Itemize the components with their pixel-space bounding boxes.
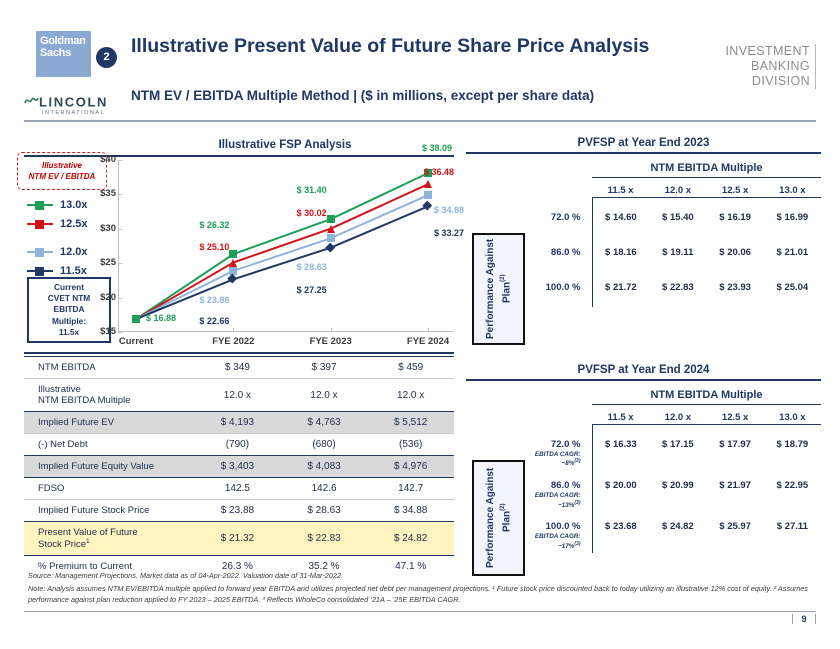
pvfsp-multiple-column-header: 11.5 x	[592, 411, 649, 425]
pvfsp-multiple-column-header: 11.5 x	[592, 184, 649, 198]
table-row: IllustrativeNTM EBITDA Multiple12.0 x12.…	[24, 379, 454, 412]
data-point-label: $ 38.09	[422, 143, 452, 153]
table-cell-value: 12.0 x	[367, 379, 454, 412]
callout-line-2: NTM EV / EBITDA	[29, 172, 96, 181]
pvfsp-cell-value: $ 20.00	[592, 470, 649, 511]
table-cell-value: 142.7	[367, 478, 454, 500]
pvfsp-cell-value: $ 25.04	[764, 272, 821, 307]
table-cell-value: (790)	[194, 434, 281, 456]
x-axis-tick-label: FYE 2022	[193, 336, 273, 347]
pvfsp-multiple-column-header: 12.5 x	[707, 184, 764, 198]
table-cell-value: $ 24.82	[367, 522, 454, 556]
legend-label: 11.5x	[60, 265, 87, 277]
chart-bottom-divider	[24, 352, 454, 354]
table-cell-value: $ 21.32	[194, 522, 281, 556]
pvfsp-cell-value: $ 21.01	[764, 237, 821, 272]
data-point-label: $ 33.27	[434, 228, 464, 238]
data-point-label: $ 34.88	[434, 205, 464, 215]
pvfsp-cell-value: $ 21.97	[707, 470, 764, 511]
chart-plot-area: $15$20$25$30$35$40CurrentFYE 2022FYE 202…	[118, 160, 454, 332]
table-row-label: Present Value of FutureStock Price1	[24, 522, 194, 556]
pvfsp-cell-value: $ 19.11	[649, 237, 706, 272]
pvfsp-cell-value: $ 17.97	[707, 425, 764, 470]
step-number-badge: 2	[96, 47, 117, 68]
table-cell-value: $ 459	[367, 357, 454, 379]
goldman-sachs-logo: GoldmanSachs	[36, 31, 91, 77]
table-cell-value: (680)	[281, 434, 368, 456]
pvfsp-cell-value: $ 27.11	[764, 511, 821, 552]
pvfsp-spacer-cell	[466, 184, 592, 198]
legend-swatch-icon	[27, 265, 53, 277]
table-row: FDSO142.5142.6142.7	[24, 478, 454, 500]
pvfsp-cell-value: $ 22.95	[764, 470, 821, 511]
analysis-note: Note: Analysis assumes NTM EV/EBITDA mul…	[28, 584, 813, 605]
callout-line-1: Illustrative	[42, 161, 82, 170]
pvfsp-spacer-cell	[466, 411, 592, 425]
division-label: INVESTMENT BANKING DIVISION	[666, 44, 816, 89]
data-point-marker	[424, 191, 432, 199]
data-point-label: $ 30.02	[297, 208, 327, 218]
pvfsp-multiple-header-row: 11.5 x12.0 x12.5 x13.0 x	[466, 411, 821, 425]
pvfsp-cell-value: $ 18.79	[764, 425, 821, 470]
table-row: Implied Future Stock Price$ 23.88$ 28.63…	[24, 500, 454, 522]
data-point-label: $ 27.25	[297, 285, 327, 295]
table-cell-value: $ 4,193	[194, 412, 281, 434]
table-cell-value: 12.0 x	[281, 379, 368, 412]
table-row-label: FDSO	[24, 478, 194, 500]
table-row-label: Implied Future EV	[24, 412, 194, 434]
table-cell-value: $ 34.88	[367, 500, 454, 522]
pvfsp-2024-multiple-header: NTM EBITDA Multiple	[592, 389, 821, 401]
legend-label: 12.0x	[60, 246, 88, 258]
data-point-marker	[229, 259, 237, 267]
legend-swatch-icon	[27, 199, 53, 211]
pvfsp-2024-divider	[466, 379, 821, 381]
table-cell-value: $ 4,976	[367, 456, 454, 478]
footer-divider	[24, 611, 816, 612]
performance-against-plan-label: Performance Against Plan(2)	[484, 462, 513, 574]
pvfsp-table-row: 72.0 %$ 14.60$ 15.40$ 16.19$ 16.99	[466, 198, 821, 238]
assumptions-table: NTM EBITDA$ 349$ 397$ 459IllustrativeNTM…	[24, 356, 454, 577]
data-point-marker	[327, 234, 335, 242]
y-axis-tick-label: $40	[92, 154, 116, 165]
table-cell-value: $ 23.88	[194, 500, 281, 522]
legend-label: 13.0x	[60, 199, 88, 211]
chart-title: Illustrative FSP Analysis	[110, 139, 460, 151]
table-row-label: NTM EBITDA	[24, 357, 194, 379]
pvfsp-row-header: 72.0 %	[466, 198, 592, 238]
y-axis-tick-mark	[118, 332, 122, 333]
table-row: NTM EBITDA$ 349$ 397$ 459	[24, 357, 454, 379]
pvfsp-cell-value: $ 23.93	[707, 272, 764, 307]
pvfsp-2023-axis-label-box: Performance Against Plan(2)	[472, 233, 525, 345]
pvfsp-2023-panel: PVFSP at Year End 2023 NTM EBITDA Multip…	[466, 137, 821, 307]
table-cell-value: $ 5,512	[367, 412, 454, 434]
table-cell-value: 12.0 x	[194, 379, 281, 412]
lincoln-name: LINCOLN	[39, 95, 108, 110]
pvfsp-cell-value: $ 20.99	[649, 470, 706, 511]
data-point-label: $ 28.63	[297, 262, 327, 272]
pvfsp-cell-value: $ 21.72	[592, 272, 649, 307]
pvfsp-2023-multiple-header: NTM EBITDA Multiple	[592, 162, 821, 174]
source-note: Source: Management Projections. Market d…	[28, 571, 628, 580]
data-point-marker	[327, 215, 335, 223]
y-axis-tick-label: $25	[92, 257, 116, 268]
pvfsp-2023-multiple-underline	[592, 177, 821, 178]
pvfsp-multiple-column-header: 13.0 x	[764, 411, 821, 425]
chart-series-lines	[118, 160, 454, 332]
data-point-label: $ 22.66	[199, 316, 229, 326]
lincoln-international-logo: LINCOLN INTERNATIONAL	[24, 93, 129, 116]
y-axis-tick-label: $20	[92, 292, 116, 303]
x-axis-tick-label: FYE 2023	[291, 336, 371, 347]
page-subtitle: NTM EV / EBITDA Multiple Method | ($ in …	[131, 88, 691, 103]
table-row-label: IllustrativeNTM EBITDA Multiple	[24, 379, 194, 412]
division-line-2: DIVISION	[666, 74, 810, 89]
pvfsp-2024-panel: PVFSP at Year End 2024 NTM EBITDA Multip…	[466, 364, 821, 553]
pvfsp-cell-value: $ 25.97	[707, 511, 764, 552]
table-cell-value: $ 349	[194, 357, 281, 379]
table-row: Implied Future EV$ 4,193$ 4,763$ 5,512	[24, 412, 454, 434]
table-row-label: Implied Future Stock Price	[24, 500, 194, 522]
legend-label: 12.5x	[60, 218, 88, 230]
slide-header: GoldmanSachs 2 LINCOLN INTERNATIONAL Ill…	[0, 0, 840, 122]
pvfsp-2024-title: PVFSP at Year End 2024	[466, 364, 821, 376]
table-row: Present Value of FutureStock Price1$ 21.…	[24, 522, 454, 556]
data-point-marker	[327, 225, 335, 233]
table-cell-value: $ 397	[281, 357, 368, 379]
current-multiple-text: CurrentCVET NTMEBITDAMultiple:11.5x	[48, 282, 90, 338]
legend-swatch-icon	[27, 218, 53, 230]
pvfsp-2023-divider	[466, 152, 821, 154]
table-cell-value: $ 4,083	[281, 456, 368, 478]
pvfsp-multiple-header-row: 11.5 x12.0 x12.5 x13.0 x	[466, 184, 821, 198]
pvfsp-cell-value: $ 16.33	[592, 425, 649, 470]
table-row-label: Implied Future Equity Value	[24, 456, 194, 478]
data-point-label: $ 23.88	[199, 295, 229, 305]
page-title: Illustrative Present Value of Future Sha…	[131, 34, 661, 58]
y-axis-tick-label: $30	[92, 223, 116, 234]
pvfsp-2024-axis-label-box: Performance Against Plan(2)	[472, 460, 525, 576]
pvfsp-multiple-column-header: 13.0 x	[764, 184, 821, 198]
data-point-label: $ 36.48	[424, 167, 454, 177]
division-line-1: INVESTMENT BANKING	[666, 44, 810, 74]
pvfsp-cell-value: $ 24.82	[649, 511, 706, 552]
pvfsp-cell-value: $ 20.06	[707, 237, 764, 272]
table-cell-value: $ 22.83	[281, 522, 368, 556]
lincoln-wave-icon	[24, 93, 39, 111]
x-axis-tick-label: Current	[96, 336, 176, 347]
data-point-marker	[229, 250, 237, 258]
pvfsp-cell-value: $ 16.99	[764, 198, 821, 238]
pvfsp-multiple-column-header: 12.5 x	[707, 411, 764, 425]
table-cell-value: $ 4,763	[281, 412, 368, 434]
data-point-label: $ 25.10	[199, 242, 229, 252]
pvfsp-cell-value: $ 16.19	[707, 198, 764, 238]
lincoln-subtitle: INTERNATIONAL	[42, 110, 129, 116]
pvfsp-multiple-column-header: 12.0 x	[649, 411, 706, 425]
pvfsp-cell-value: $ 14.60	[592, 198, 649, 238]
data-point-marker	[132, 315, 140, 323]
page-number: 9	[792, 614, 816, 624]
pvfsp-cell-value: $ 23.68	[592, 511, 649, 552]
data-point-label: $ 31.40	[297, 185, 327, 195]
pvfsp-2024-multiple-underline	[592, 404, 821, 405]
x-axis-tick-label: FYE 2024	[388, 336, 468, 347]
pvfsp-2023-title: PVFSP at Year End 2023	[466, 137, 821, 149]
header-divider	[24, 120, 816, 122]
pvfsp-multiple-column-header: 12.0 x	[649, 184, 706, 198]
pvfsp-cell-value: $ 22.83	[649, 272, 706, 307]
table-row-label: (-) Net Debt	[24, 434, 194, 456]
table-row: Implied Future Equity Value$ 3,403$ 4,08…	[24, 456, 454, 478]
pvfsp-cell-value: $ 15.40	[649, 198, 706, 238]
data-point-marker	[424, 180, 432, 188]
assumptions-table-grid: NTM EBITDA$ 349$ 397$ 459IllustrativeNTM…	[24, 356, 454, 577]
performance-against-plan-label: Performance Against Plan(2)	[484, 235, 513, 343]
table-cell-value: 142.5	[194, 478, 281, 500]
table-cell-value: (536)	[367, 434, 454, 456]
pvfsp-cell-value: $ 18.16	[592, 237, 649, 272]
table-cell-value: $ 3,403	[194, 456, 281, 478]
table-row: (-) Net Debt(790)(680)(536)	[24, 434, 454, 456]
y-axis-tick-label: $35	[92, 188, 116, 199]
data-point-label: $ 16.88	[146, 313, 176, 323]
table-cell-value: $ 28.63	[281, 500, 368, 522]
legend-swatch-icon	[27, 246, 53, 258]
data-point-label: $ 26.32	[199, 220, 229, 230]
table-cell-value: 142.6	[281, 478, 368, 500]
pvfsp-cell-value: $ 17.15	[649, 425, 706, 470]
